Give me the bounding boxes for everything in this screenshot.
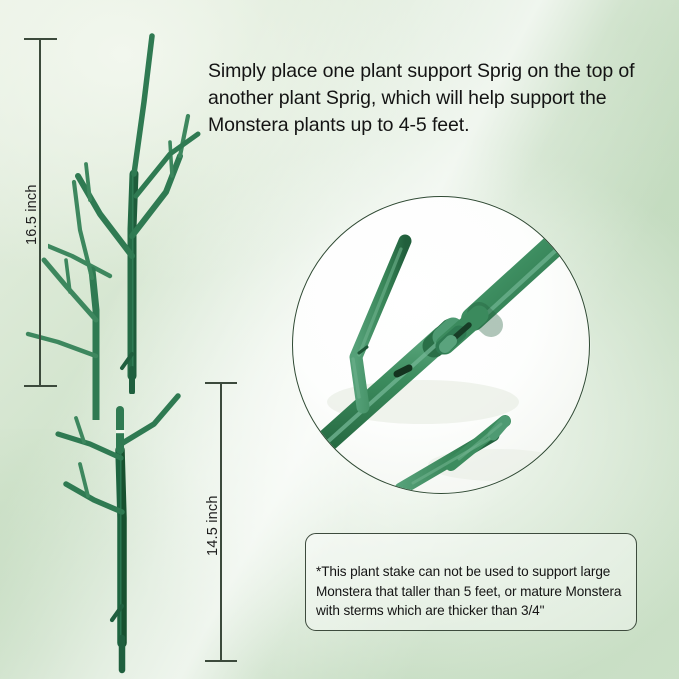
dimension-label-14-5-inch: 14.5 inch (205, 495, 221, 556)
closeup-illustration (293, 197, 589, 493)
dimension-cap-bottom-16 (24, 385, 57, 387)
dimension-label-16-5-inch: 16.5 inch (24, 184, 40, 245)
infographic-canvas: 16.5 inch 14.5 inch Simply place one pla… (0, 0, 679, 679)
connection-closeup-inset (292, 196, 590, 494)
disclaimer-box: *This plant stake can not be used to sup… (305, 533, 637, 631)
headline-text: Simply place one plant support Sprig on … (208, 58, 668, 139)
dimension-cap-bottom-14 (205, 660, 237, 662)
disclaimer-text: *This plant stake can not be used to sup… (316, 562, 634, 621)
